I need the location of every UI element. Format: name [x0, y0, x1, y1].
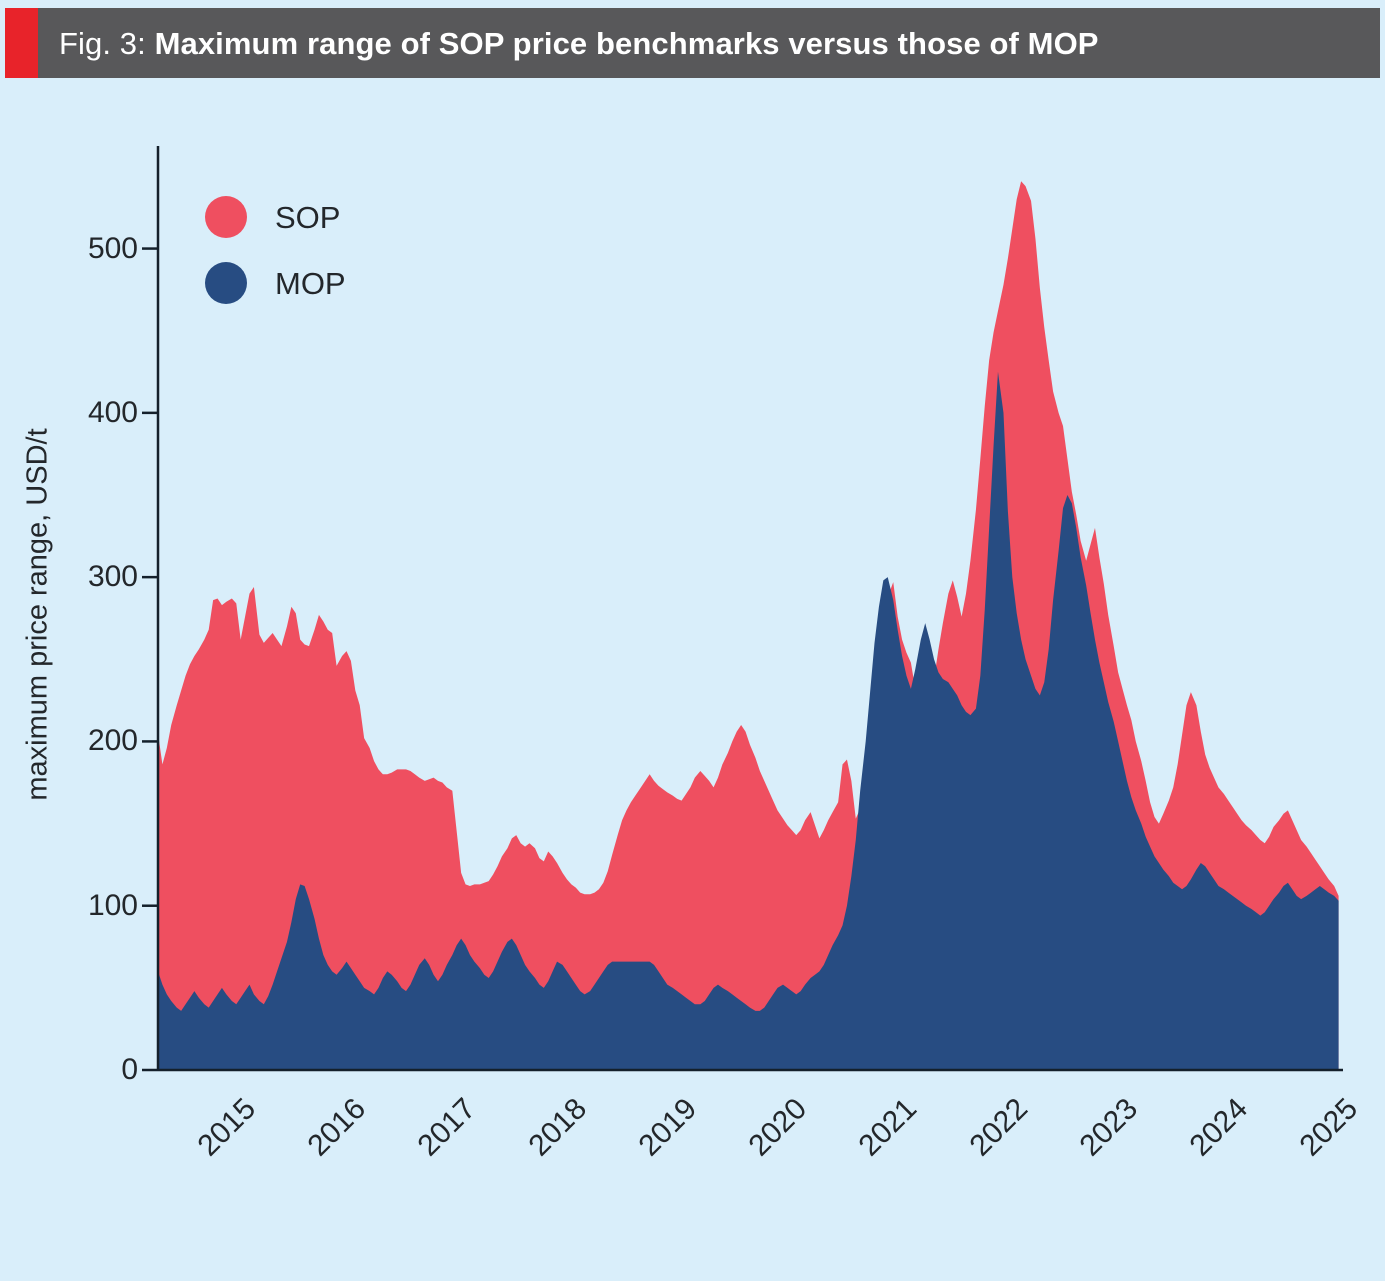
- legend-label-sop: SOP: [275, 202, 340, 233]
- y-tick-label-100: 100: [88, 889, 138, 923]
- legend-item-mop[interactable]: MOP: [205, 262, 346, 304]
- y-tick-label-500: 500: [88, 232, 138, 266]
- legend-item-sop[interactable]: SOP: [205, 196, 346, 238]
- chart-legend: SOP MOP: [205, 196, 346, 304]
- figure-title-bar: Fig. 3: Maximum range of SOP price bench…: [5, 8, 1380, 78]
- figure-number-label: Fig. 3:: [59, 26, 155, 61]
- y-tick-label-200: 200: [88, 724, 138, 758]
- figure-title-text: Maximum range of SOP price benchmarks ve…: [155, 26, 1099, 61]
- y-tick-label-400: 400: [88, 396, 138, 430]
- page-title: Fig. 3: Maximum range of SOP price bench…: [38, 28, 1099, 59]
- chart-series-layer: [158, 181, 1339, 1070]
- figure-container: Fig. 3: Maximum range of SOP price bench…: [0, 0, 1385, 1281]
- y-tick-label-0: 0: [121, 1053, 138, 1087]
- y-axis-title: maximum price range, USD/t: [22, 355, 55, 875]
- y-tick-label-300: 300: [88, 560, 138, 594]
- legend-marker-mop-icon: [205, 262, 247, 304]
- legend-marker-sop-icon: [205, 196, 247, 238]
- title-accent-bar: [5, 8, 38, 78]
- legend-label-mop: MOP: [275, 268, 346, 299]
- chart-plot-area: 0100200300400500 maximum price range, US…: [0, 78, 1385, 1281]
